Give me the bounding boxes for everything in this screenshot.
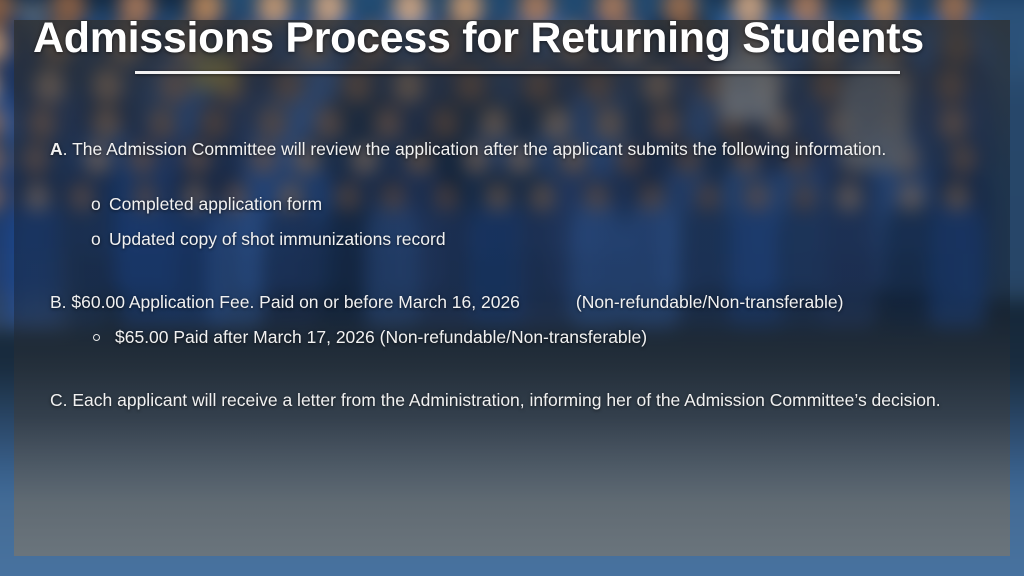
list-item-label: $65.00 Paid after March 17, 2026 (Non-re… bbox=[115, 327, 647, 347]
section-a-label-suffix: . bbox=[63, 139, 72, 159]
section-c-paragraph: C. Each applicant will receive a letter … bbox=[0, 383, 1024, 418]
section-b-subbullet-list: $65.00 Paid after March 17, 2026 (Non-re… bbox=[0, 320, 1024, 355]
section-a-label: A bbox=[50, 139, 63, 159]
section-c-text: Each applicant will receive a letter fro… bbox=[68, 390, 941, 410]
section-a-text: The Admission Committee will review the … bbox=[72, 139, 886, 159]
presentation-slide: Admissions Process for Returning Student… bbox=[0, 0, 1024, 576]
list-item-label: Updated copy of shot immunizations recor… bbox=[109, 229, 446, 249]
list-item-label: Completed application form bbox=[109, 194, 322, 214]
list-item: $65.00 Paid after March 17, 2026 (Non-re… bbox=[90, 320, 1024, 355]
bullet-marker-circle-icon bbox=[93, 334, 100, 341]
section-b-label: B. bbox=[50, 292, 67, 312]
section-a-bullet-list: o Completed application form o Updated c… bbox=[0, 187, 1024, 257]
slide-body: A. The Admission Committee will review t… bbox=[0, 132, 1024, 418]
list-item: o Updated copy of shot immunizations rec… bbox=[91, 222, 1024, 257]
bullet-marker-o: o bbox=[91, 187, 101, 222]
section-b-text-primary: $60.00 Application Fee. Paid on or befor… bbox=[67, 292, 520, 312]
bullet-marker-o: o bbox=[91, 222, 101, 257]
section-a-paragraph: A. The Admission Committee will review t… bbox=[0, 132, 1024, 167]
section-b-paragraph: B. $60.00 Application Fee. Paid on or be… bbox=[0, 285, 1024, 320]
title-underline-rule bbox=[135, 71, 900, 74]
spacer bbox=[0, 355, 1024, 383]
section-b-text-secondary: (Non-refundable/Non-transferable) bbox=[576, 292, 844, 312]
slide-title: Admissions Process for Returning Student… bbox=[33, 16, 993, 61]
spacer bbox=[0, 167, 1024, 187]
spacer bbox=[0, 257, 1024, 285]
list-item: o Completed application form bbox=[91, 187, 1024, 222]
section-c-label: C. bbox=[50, 390, 68, 410]
